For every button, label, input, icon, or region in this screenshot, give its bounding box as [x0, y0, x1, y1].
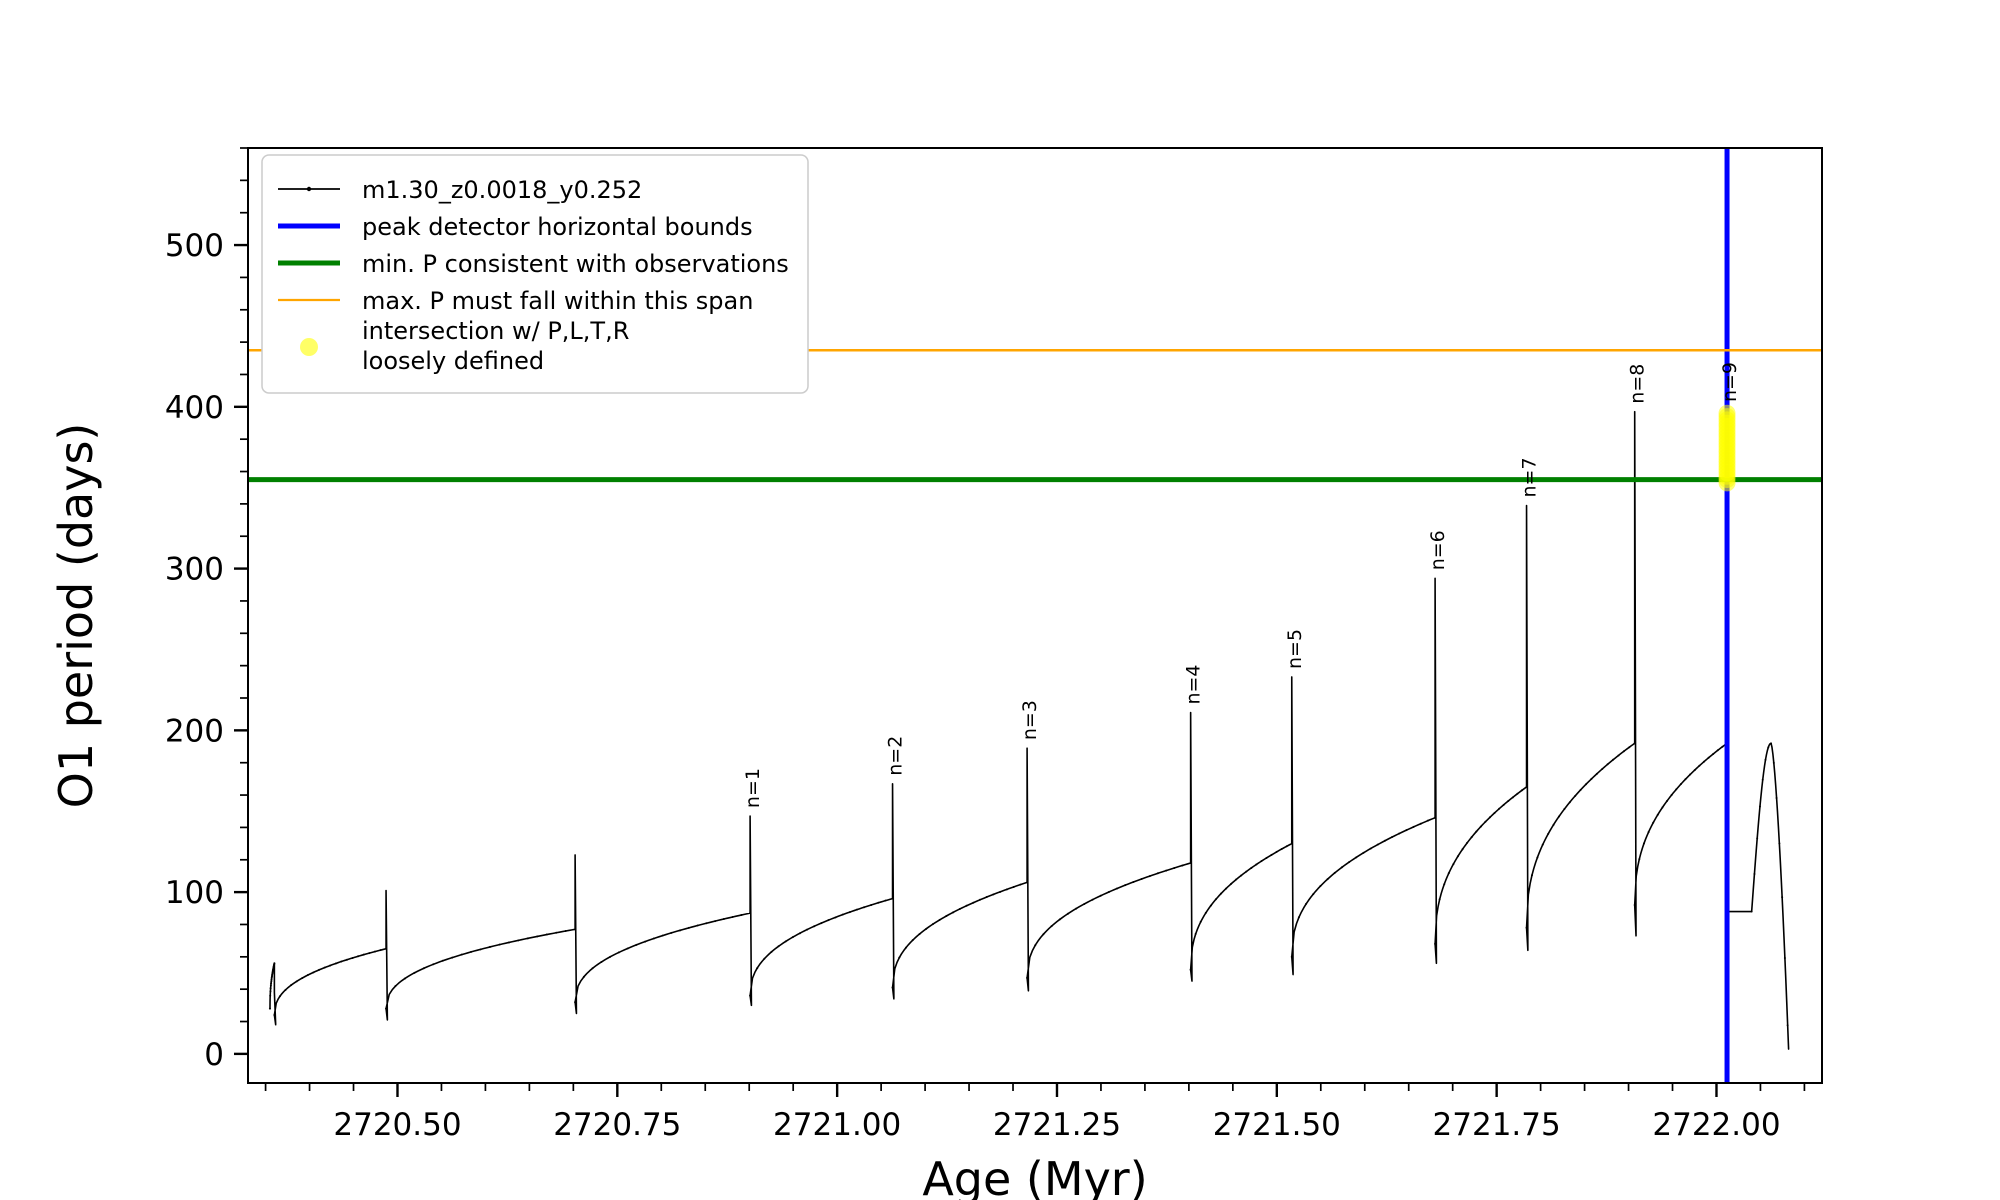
data-point-marker: [1526, 786, 1528, 788]
data-point-marker: [1276, 851, 1278, 853]
data-point-marker: [1569, 801, 1571, 803]
data-point-marker: [1675, 788, 1677, 790]
data-point-marker: [1703, 761, 1705, 763]
data-point-marker: [374, 951, 376, 953]
data-point-marker: [1489, 816, 1491, 818]
data-point-marker: [1026, 881, 1028, 883]
data-point-marker: [1448, 872, 1450, 874]
data-point-marker: [898, 957, 900, 959]
peak-annotation-n=9: n=9: [1719, 362, 1741, 402]
data-point-marker: [1434, 943, 1436, 945]
data-point-marker: [1250, 867, 1252, 869]
data-point-marker: [290, 984, 292, 986]
y-axis-label: O1 period (days): [49, 423, 103, 809]
data-point-marker: [820, 922, 822, 924]
data-point-marker: [574, 1001, 576, 1003]
data-point-marker: [1781, 896, 1783, 898]
data-point-marker: [432, 963, 434, 965]
data-point-marker: [1536, 857, 1538, 859]
data-point-marker: [1245, 871, 1247, 873]
data-point-marker: [1648, 831, 1650, 833]
data-point-marker: [1165, 870, 1167, 872]
xtick-label: 2721.00: [773, 1107, 901, 1143]
data-point-marker: [269, 1008, 271, 1010]
data-point-marker: [1124, 884, 1126, 886]
data-point-marker: [813, 925, 815, 927]
data-point-marker: [1083, 903, 1085, 905]
data-point-marker: [1759, 805, 1761, 807]
ytick-label: 100: [165, 875, 224, 911]
data-point-marker: [835, 916, 837, 918]
data-point-marker: [1466, 842, 1468, 844]
data-point-marker: [1370, 848, 1372, 850]
data-point-marker: [618, 951, 620, 953]
data-point-marker: [1531, 874, 1533, 876]
data-point-marker: [1200, 921, 1202, 923]
ytick-label: 0: [204, 1037, 224, 1073]
data-point-marker: [799, 932, 801, 934]
data-point-marker: [1019, 884, 1021, 886]
data-point-marker: [1265, 857, 1267, 859]
data-point-marker: [1553, 824, 1555, 826]
data-point-marker: [1291, 843, 1293, 845]
peak-annotation-n=8: n=8: [1627, 364, 1649, 404]
data-point-marker: [1195, 933, 1197, 935]
data-point-marker: [1075, 908, 1077, 910]
data-point-marker: [489, 946, 491, 948]
data-point-marker: [273, 1014, 275, 1016]
data-point-marker: [912, 939, 914, 941]
data-point-marker: [404, 977, 406, 979]
data-point-marker: [285, 989, 287, 991]
data-point-marker: [662, 935, 664, 937]
data-point-marker: [1434, 817, 1436, 819]
data-point-marker: [1498, 808, 1500, 810]
data-point-marker: [863, 906, 865, 908]
data-point-marker: [1305, 903, 1307, 905]
data-point-marker: [763, 958, 765, 960]
data-point-marker: [925, 928, 927, 930]
data-point-marker: [442, 960, 444, 962]
highlight-marker: [1719, 405, 1736, 422]
plot-svg: 01002003004005002720.502720.752721.00272…: [0, 0, 2000, 1200]
data-point-marker: [1157, 872, 1159, 874]
data-point-marker: [1751, 911, 1753, 913]
data-point-marker: [1059, 918, 1061, 920]
data-point-marker: [1377, 844, 1379, 846]
data-point-marker: [340, 961, 342, 963]
data-point-marker: [905, 947, 907, 949]
data-point-marker: [1580, 789, 1582, 791]
data-point-marker: [1698, 765, 1700, 767]
data-point-marker: [1762, 779, 1764, 781]
data-point-marker: [470, 951, 472, 953]
data-point-marker: [1542, 844, 1544, 846]
data-point-marker: [972, 902, 974, 904]
data-point-marker: [1661, 807, 1663, 809]
data-point-marker: [1547, 833, 1549, 835]
data-point-marker: [269, 990, 271, 992]
data-point-marker: [1384, 840, 1386, 842]
data-point-marker: [1689, 774, 1691, 776]
data-point-marker: [461, 954, 463, 956]
xtick-label: 2722.00: [1652, 1107, 1780, 1143]
peak-annotation-n=1: n=1: [742, 768, 764, 808]
data-point-marker: [999, 891, 1001, 893]
data-point-marker: [1255, 863, 1257, 865]
data-point-marker: [679, 929, 681, 931]
data-point-marker: [877, 902, 879, 904]
legend-label: peak detector horizontal bounds: [362, 213, 753, 241]
data-point-marker: [1712, 753, 1714, 755]
data-point-marker: [756, 967, 758, 969]
data-point-marker: [1260, 860, 1262, 862]
data-point-marker: [1652, 822, 1654, 824]
ytick-label: 300: [165, 552, 224, 588]
data-point-marker: [1480, 826, 1482, 828]
data-point-marker: [423, 967, 425, 969]
data-point-marker: [307, 974, 309, 976]
peak-annotation-n=5: n=5: [1284, 629, 1306, 669]
data-point-marker: [732, 916, 734, 918]
data-point-marker: [1717, 749, 1719, 751]
data-point-marker: [1516, 793, 1518, 795]
data-point-marker: [986, 896, 988, 898]
data-point-marker: [1240, 874, 1242, 876]
data-point-marker: [1181, 864, 1183, 866]
data-point-marker: [740, 914, 742, 916]
data-point-marker: [1149, 875, 1151, 877]
legend-label-line2: loosely defined: [362, 347, 544, 375]
data-point-marker: [1210, 905, 1212, 907]
data-point-marker: [770, 951, 772, 953]
data-point-marker: [792, 936, 794, 938]
data-point-marker: [346, 959, 348, 961]
legend-label: intersection w/ P,L,T,R: [362, 317, 629, 345]
data-point-marker: [870, 904, 872, 906]
data-point-marker: [1756, 837, 1758, 839]
data-point-marker: [714, 920, 716, 922]
data-point-marker: [1643, 843, 1645, 845]
data-point-marker: [1558, 815, 1560, 817]
data-point-marker: [1634, 742, 1636, 744]
data-point-marker: [1634, 904, 1636, 906]
data-point-marker: [749, 912, 751, 914]
data-point-marker: [270, 987, 272, 989]
data-point-marker: [1721, 746, 1723, 748]
data-point-marker: [1708, 757, 1710, 759]
data-point-marker: [1334, 872, 1336, 874]
data-point-marker: [1230, 883, 1232, 885]
data-point-marker: [546, 934, 548, 936]
data-point-marker: [723, 918, 725, 920]
data-point-marker: [1507, 800, 1509, 802]
data-point-marker: [1362, 852, 1364, 854]
data-point-marker: [688, 927, 690, 929]
data-point-marker: [517, 939, 519, 941]
data-point-marker: [959, 908, 961, 910]
data-point-marker: [1443, 883, 1445, 885]
data-point-marker: [1205, 912, 1207, 914]
data-point-marker: [1327, 878, 1329, 880]
data-point-marker: [1767, 746, 1769, 748]
data-point-marker: [1617, 754, 1619, 756]
data-point-marker: [1671, 794, 1673, 796]
data-point-marker: [1596, 773, 1598, 775]
data-point-marker: [312, 971, 314, 973]
data-point-marker: [1092, 899, 1094, 901]
data-point-marker: [1601, 768, 1603, 770]
xtick-label: 2721.25: [993, 1107, 1121, 1143]
data-point-marker: [670, 932, 672, 934]
data-point-marker: [1355, 856, 1357, 858]
data-point-marker: [508, 941, 510, 943]
data-point-marker: [705, 922, 707, 924]
data-point-marker: [1784, 957, 1786, 959]
data-point-marker: [939, 919, 941, 921]
data-point-marker: [555, 932, 557, 934]
data-point-marker: [1585, 783, 1587, 785]
data-point-marker: [1291, 956, 1293, 958]
data-point-marker: [1067, 913, 1069, 915]
data-point-marker: [1512, 796, 1514, 798]
data-point-marker: [318, 969, 320, 971]
data-point-marker: [1006, 888, 1008, 890]
data-point-marker: [653, 938, 655, 940]
data-point-marker: [945, 915, 947, 917]
data-point-marker: [1765, 759, 1767, 761]
data-point-marker: [536, 935, 538, 937]
data-point-marker: [1026, 977, 1028, 979]
data-point-marker: [357, 955, 359, 957]
data-point-marker: [1607, 763, 1609, 765]
data-point-marker: [992, 893, 994, 895]
data-point-marker: [856, 909, 858, 911]
data-point-marker: [271, 978, 273, 980]
data-point-marker: [1281, 848, 1283, 850]
data-point-marker: [1413, 826, 1415, 828]
legend-swatch-marker: [307, 187, 311, 191]
data-point-marker: [270, 980, 272, 982]
data-point-marker: [627, 947, 629, 949]
data-point-marker: [451, 957, 453, 959]
data-point-marker: [932, 923, 934, 925]
figure-canvas: 01002003004005002720.502720.752721.00272…: [0, 0, 2000, 1200]
data-point-marker: [1457, 855, 1459, 857]
ytick-label: 500: [165, 228, 224, 264]
data-point-marker: [1348, 861, 1350, 863]
peak-annotation-n=6: n=6: [1427, 530, 1449, 570]
data-point-marker: [1753, 873, 1755, 875]
data-point-marker: [1398, 833, 1400, 835]
data-point-marker: [1391, 836, 1393, 838]
data-point-marker: [1778, 842, 1780, 844]
data-point-marker: [480, 948, 482, 950]
data-point-marker: [592, 967, 594, 969]
xtick-label: 2720.50: [333, 1107, 461, 1143]
data-point-marker: [1220, 893, 1222, 895]
legend-label: m1.30_z0.0018_y0.252: [362, 176, 642, 204]
data-point-marker: [600, 961, 602, 963]
data-point-marker: [1405, 829, 1407, 831]
data-point-marker: [884, 900, 886, 902]
xtick-label: 2720.75: [553, 1107, 681, 1143]
data-point-marker: [565, 930, 567, 932]
data-point-marker: [574, 928, 576, 930]
data-point-marker: [827, 919, 829, 921]
data-point-marker: [269, 995, 271, 997]
data-point-marker: [296, 980, 298, 982]
legend-label: min. P consistent with observations: [362, 250, 789, 278]
data-point-marker: [1108, 891, 1110, 893]
data-point-marker: [697, 925, 699, 927]
data-point-marker: [335, 962, 337, 964]
data-point-marker: [1141, 878, 1143, 880]
data-point-marker: [892, 987, 894, 989]
data-point-marker: [1462, 848, 1464, 850]
data-point-marker: [1190, 969, 1192, 971]
data-point-marker: [413, 972, 415, 974]
data-point-marker: [918, 933, 920, 935]
data-point-marker: [1628, 746, 1630, 748]
data-point-marker: [1190, 862, 1192, 864]
data-point-marker: [583, 976, 585, 978]
data-point-marker: [1319, 885, 1321, 887]
data-point-marker: [1042, 933, 1044, 935]
ytick-label: 400: [165, 390, 224, 426]
x-axis-label: Age (Myr): [922, 1152, 1147, 1200]
data-point-marker: [1420, 823, 1422, 825]
peak-annotation-n=2: n=2: [885, 736, 907, 776]
data-point-marker: [1773, 762, 1775, 764]
peak-annotation-n=7: n=7: [1519, 457, 1541, 497]
data-point-marker: [1484, 821, 1486, 823]
data-point-marker: [1471, 836, 1473, 838]
data-point-marker: [1680, 783, 1682, 785]
data-point-marker: [1503, 804, 1505, 806]
data-point-marker: [609, 956, 611, 958]
data-point-marker: [1770, 742, 1772, 744]
data-point-marker: [842, 914, 844, 916]
data-point-marker: [1271, 854, 1273, 856]
data-point-marker: [379, 949, 381, 951]
data-point-marker: [324, 967, 326, 969]
data-point-marker: [1684, 778, 1686, 780]
data-point-marker: [1494, 812, 1496, 814]
data-point-marker: [979, 899, 981, 901]
data-point-marker: [1776, 797, 1778, 799]
data-point-marker: [1298, 916, 1300, 918]
data-point-marker: [395, 985, 397, 987]
data-point-marker: [368, 952, 370, 954]
data-point-marker: [749, 995, 751, 997]
data-point-marker: [1563, 808, 1565, 810]
data-point-marker: [644, 941, 646, 943]
data-point-marker: [785, 940, 787, 942]
data-point-marker: [1173, 867, 1175, 869]
data-point-marker: [1132, 881, 1134, 883]
data-point-marker: [385, 1008, 387, 1010]
data-point-marker: [1235, 879, 1237, 881]
ytick-label: 200: [165, 713, 224, 749]
data-point-marker: [952, 911, 954, 913]
data-point-marker: [1590, 778, 1592, 780]
data-point-marker: [1116, 888, 1118, 890]
data-point-marker: [1623, 750, 1625, 752]
xtick-label: 2721.50: [1213, 1107, 1341, 1143]
data-point-marker: [1439, 898, 1441, 900]
data-point-marker: [1694, 769, 1696, 771]
data-point-marker: [527, 937, 529, 939]
data-point-marker: [329, 964, 331, 966]
data-point-marker: [1427, 820, 1429, 822]
data-point-marker: [1034, 944, 1036, 946]
data-point-marker: [1051, 925, 1053, 927]
data-point-marker: [1341, 866, 1343, 868]
data-point-marker: [1215, 898, 1217, 900]
data-point-marker: [1286, 845, 1288, 847]
data-point-marker: [635, 944, 637, 946]
data-point-marker: [778, 945, 780, 947]
data-point-marker: [1100, 895, 1102, 897]
data-point-marker: [273, 962, 275, 964]
data-point-marker: [270, 985, 272, 987]
data-point-marker: [279, 995, 281, 997]
data-point-marker: [1526, 927, 1528, 929]
data-point-marker: [1612, 759, 1614, 761]
data-point-marker: [1225, 888, 1227, 890]
data-point-marker: [1452, 863, 1454, 865]
peak-annotation-n=4: n=4: [1183, 664, 1205, 704]
data-point-marker: [849, 911, 851, 913]
data-point-marker: [1787, 1024, 1789, 1026]
legend-swatch-dot: [300, 338, 318, 356]
data-point-marker: [270, 982, 272, 984]
data-point-marker: [363, 954, 365, 956]
data-point-marker: [1521, 789, 1523, 791]
data-point-marker: [806, 929, 808, 931]
data-point-marker: [352, 957, 354, 959]
data-point-marker: [498, 944, 500, 946]
data-point-marker: [1574, 795, 1576, 797]
data-point-marker: [301, 977, 303, 979]
data-point-marker: [1638, 858, 1640, 860]
data-point-marker: [1312, 893, 1314, 895]
legend-label: max. P must fall within this span: [362, 287, 753, 315]
data-point-marker: [1013, 886, 1015, 888]
data-point-marker: [892, 898, 894, 900]
xtick-label: 2721.75: [1433, 1107, 1561, 1143]
data-point-marker: [1475, 831, 1477, 833]
data-point-marker: [1657, 814, 1659, 816]
peak-annotation-n=3: n=3: [1019, 700, 1041, 740]
data-point-marker: [966, 905, 968, 907]
data-point-marker: [385, 948, 387, 950]
data-point-marker: [1666, 800, 1668, 802]
